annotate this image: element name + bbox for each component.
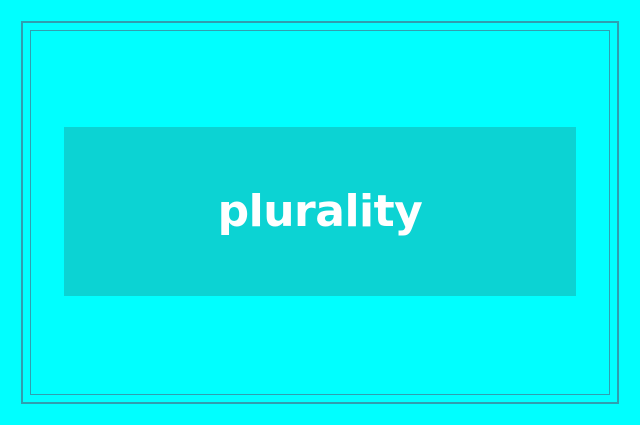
- image-canvas: plurality: [0, 0, 640, 425]
- title-banner: plurality: [64, 127, 576, 296]
- banner-title-text: plurality: [218, 190, 423, 234]
